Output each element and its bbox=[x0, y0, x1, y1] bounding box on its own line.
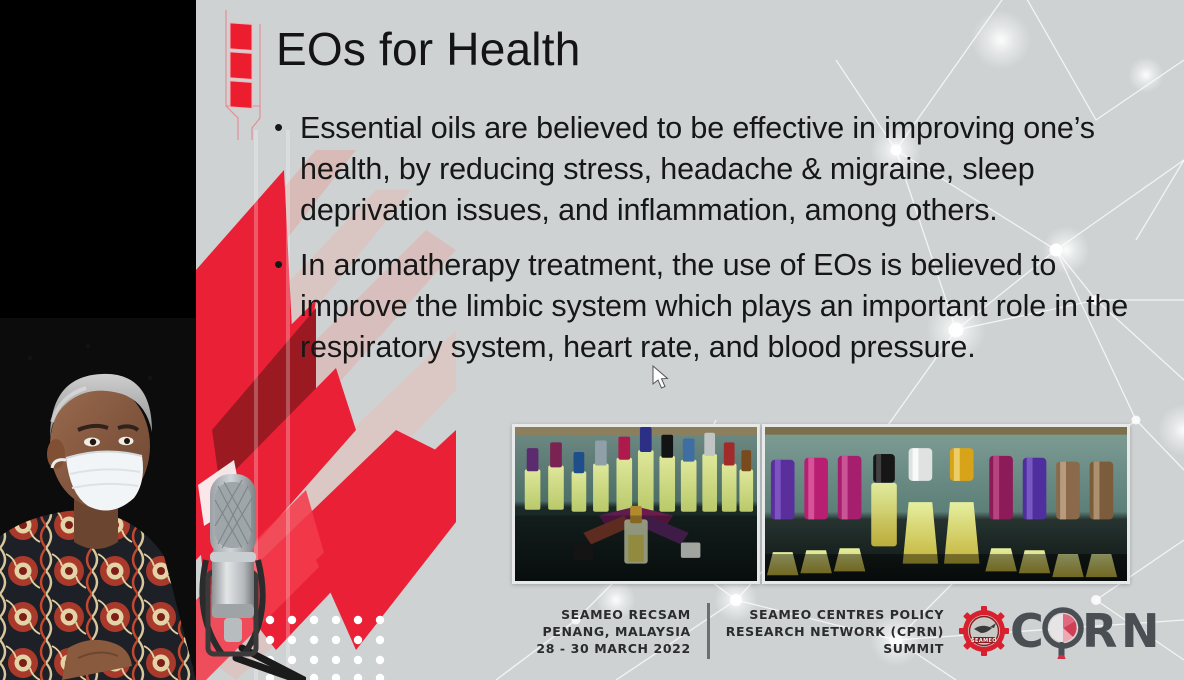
cprn-logo: SEAMEO C R N bbox=[958, 603, 1170, 659]
webcam-video-feed[interactable] bbox=[0, 318, 196, 680]
footer-right-line-1: SEAMEO CENTRES POLICY bbox=[726, 606, 944, 623]
essential-oil-bottles-row-image bbox=[762, 424, 1130, 584]
essential-oil-bottles-fan-image bbox=[512, 424, 760, 584]
slide-canvas: EOs for Health Essential oils are believ… bbox=[196, 0, 1184, 680]
webcam-video-pane[interactable] bbox=[0, 0, 196, 680]
footer-right-line-3: SUMMIT bbox=[726, 640, 944, 657]
red-squares-decoration bbox=[218, 10, 278, 140]
bullet-item-2: In aromatherapy treatment, the use of EO… bbox=[272, 245, 1160, 368]
footer-event-info: SEAMEO RECSAM PENANG, MALAYSIA 28 - 30 M… bbox=[536, 606, 690, 657]
slide-title: EOs for Health bbox=[276, 22, 580, 76]
presentation-screen-share: EOs for Health Essential oils are believ… bbox=[0, 0, 1184, 680]
footer-divider bbox=[707, 603, 710, 659]
footer-right-line-2: RESEARCH NETWORK (CPRN) bbox=[726, 623, 944, 640]
magnifier-p-icon bbox=[1045, 610, 1081, 659]
svg-text:R: R bbox=[1082, 604, 1117, 658]
svg-text:SEAMEO: SEAMEO bbox=[971, 638, 997, 644]
svg-text:N: N bbox=[1121, 604, 1159, 658]
footer-left-line-2: PENANG, MALAYSIA bbox=[536, 623, 690, 640]
seameo-gear-icon: SEAMEO bbox=[959, 606, 1009, 656]
footer-summit-info: SEAMEO CENTRES POLICY RESEARCH NETWORK (… bbox=[726, 606, 944, 657]
bullet-item-1: Essential oils are believed to be effect… bbox=[272, 108, 1160, 231]
slide-footer: SEAMEO RECSAM PENANG, MALAYSIA 28 - 30 M… bbox=[196, 595, 1184, 667]
cprn-wordmark: C R N bbox=[1010, 604, 1159, 658]
slide-body-bullets: Essential oils are believed to be effect… bbox=[272, 108, 1160, 368]
footer-left-line-1: SEAMEO RECSAM bbox=[536, 606, 690, 623]
footer-left-line-3: 28 - 30 MARCH 2022 bbox=[536, 640, 690, 657]
svg-text:C: C bbox=[1010, 604, 1043, 658]
